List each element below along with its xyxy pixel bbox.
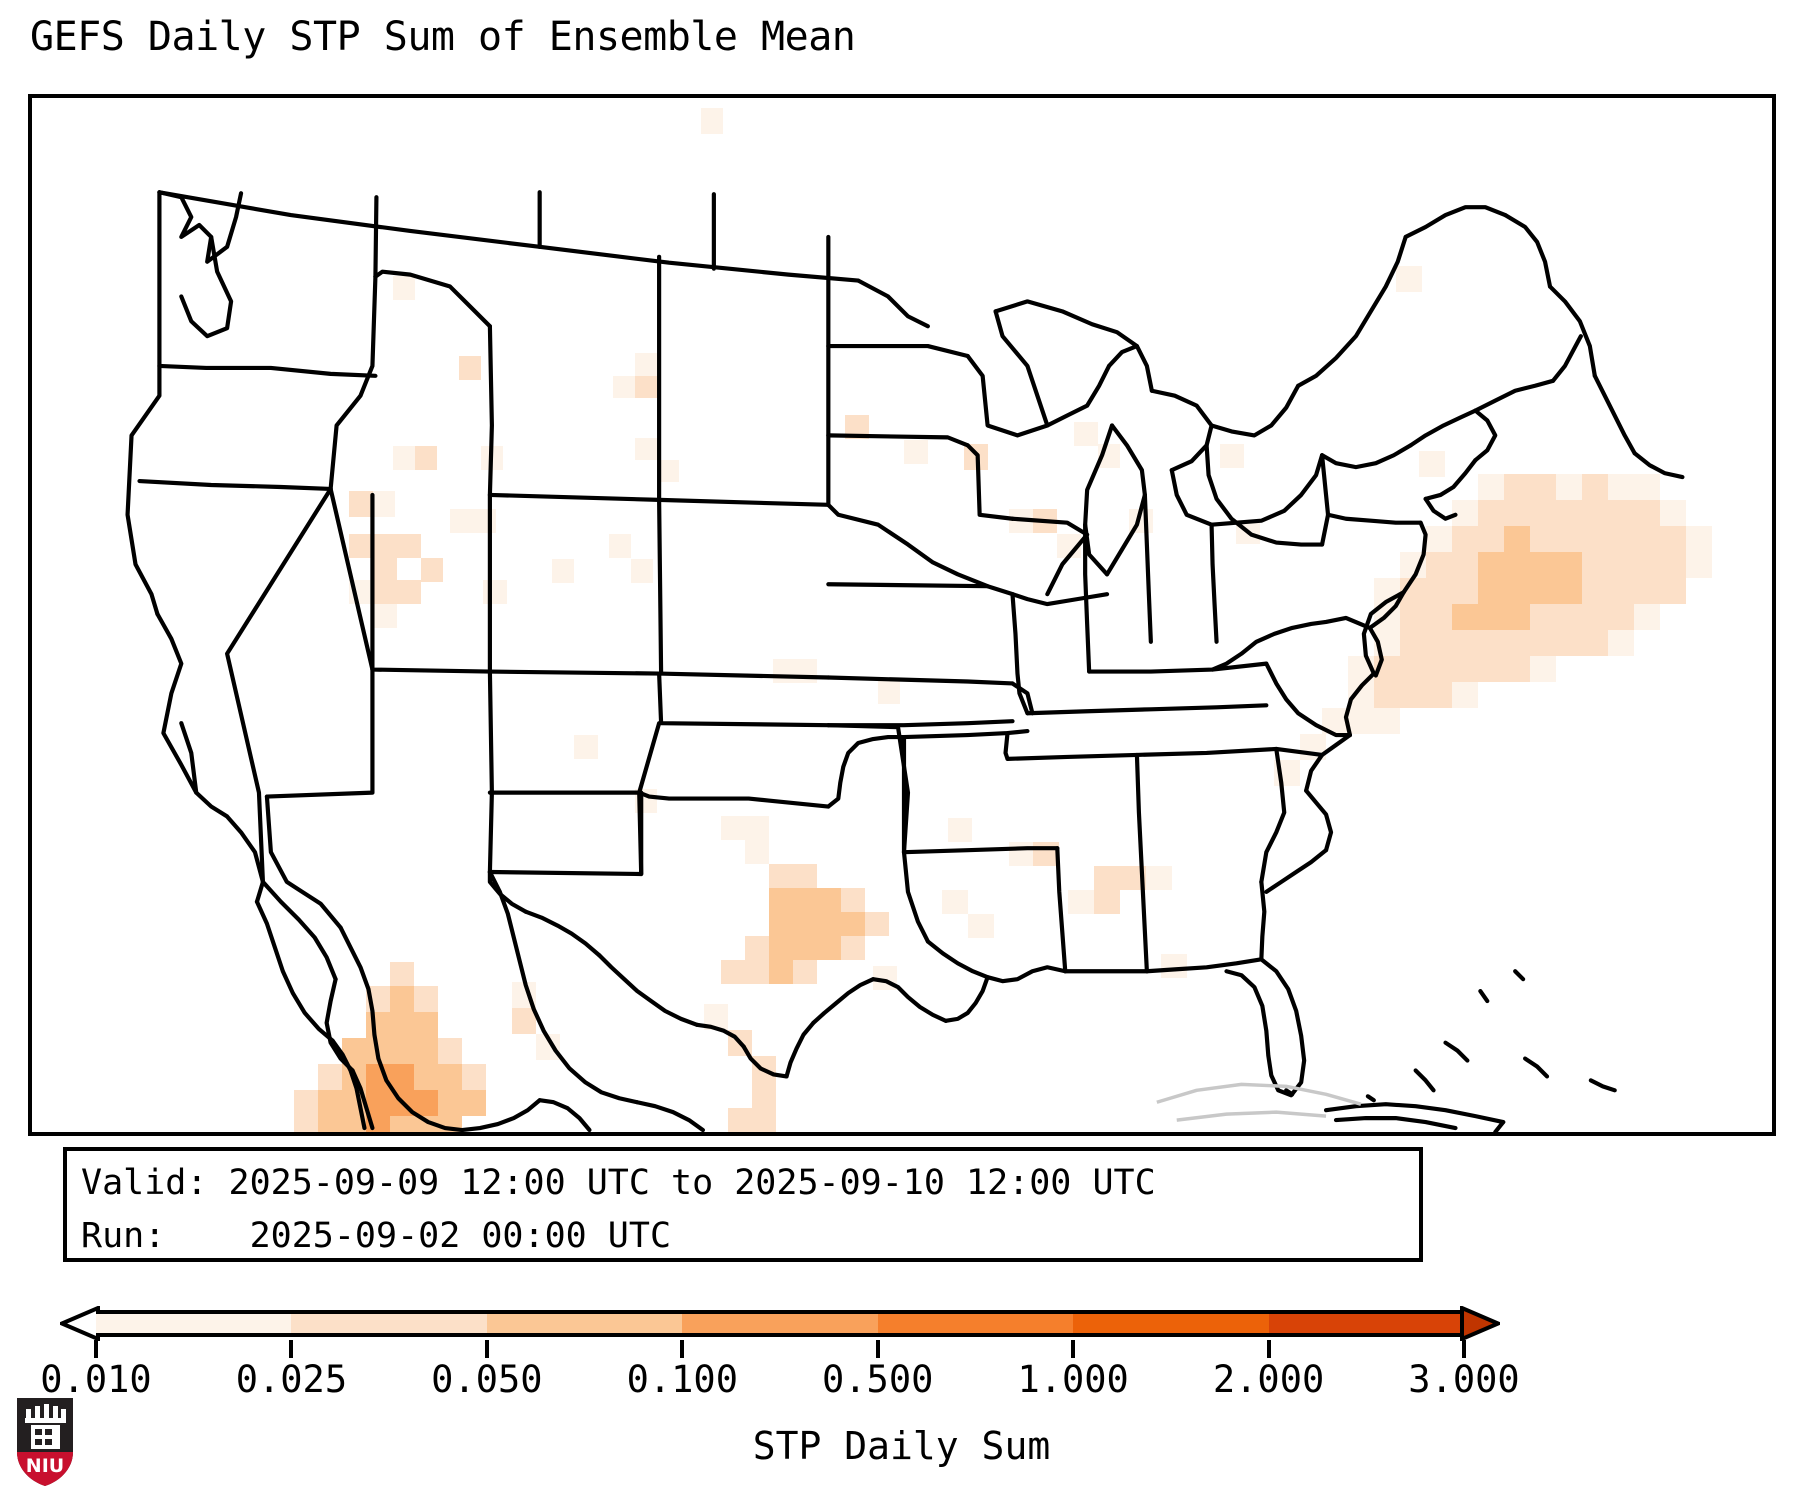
valid-time-text: Valid: 2025-09-09 12:00 UTC to 2025-09-1… (81, 1157, 1405, 1210)
colorbar-tick-1 (289, 1340, 293, 1358)
colorbar-tick-5 (1071, 1340, 1075, 1358)
colorbar-tick-4 (876, 1340, 880, 1358)
colorbar-band-4 (878, 1314, 1073, 1333)
map-geography (32, 98, 1772, 1132)
colorbar-band-3 (682, 1314, 877, 1333)
colorbar-tick-labels: 0.0100.0250.0500.1000.5001.0002.0003.000 (0, 1358, 1803, 1408)
colorbar-bands (96, 1310, 1464, 1337)
colorbar-tick-0 (94, 1340, 98, 1358)
colorbar-tick-label-7: 3.000 (1408, 1358, 1519, 1401)
colorbar-band-0 (96, 1314, 291, 1333)
colorbar-band-1 (291, 1314, 486, 1333)
colorbar-tick-label-2: 0.050 (431, 1358, 542, 1401)
colorbar-tick-6 (1267, 1340, 1271, 1358)
colorbar-tick-3 (680, 1340, 684, 1358)
colorbar-tick-7 (1462, 1340, 1466, 1358)
colorbar-tick-label-0: 0.010 (40, 1358, 151, 1401)
colorbar-tick-label-1: 0.025 (236, 1358, 347, 1401)
colorbar-tick-2 (485, 1340, 489, 1358)
colorbar-max-arrow (1460, 1306, 1500, 1341)
colorbar-tick-label-3: 0.100 (627, 1358, 738, 1401)
colorbar-title: STP Daily Sum (0, 1424, 1803, 1468)
forecast-info-box: Valid: 2025-09-09 12:00 UTC to 2025-09-1… (63, 1147, 1423, 1262)
colorbar[interactable] (60, 1306, 1500, 1342)
colorbar-band-2 (487, 1314, 682, 1333)
colorbar-band-5 (1073, 1314, 1268, 1333)
colorbar-tick-label-5: 1.000 (1017, 1358, 1128, 1401)
colorbar-min-arrow (60, 1306, 100, 1341)
colorbar-tick-label-6: 2.000 (1213, 1358, 1324, 1401)
niu-logo-icon: NIU (14, 1396, 76, 1488)
map-panel (28, 94, 1776, 1136)
colorbar-tick-label-4: 0.500 (822, 1358, 933, 1401)
colorbar-ticks (60, 1340, 1500, 1358)
page-title: GEFS Daily STP Sum of Ensemble Mean (30, 14, 855, 60)
colorbar-band-6 (1269, 1314, 1464, 1333)
svg-text:NIU: NIU (26, 1455, 64, 1477)
run-time-text: Run: 2025-09-02 00:00 UTC (81, 1210, 1405, 1263)
